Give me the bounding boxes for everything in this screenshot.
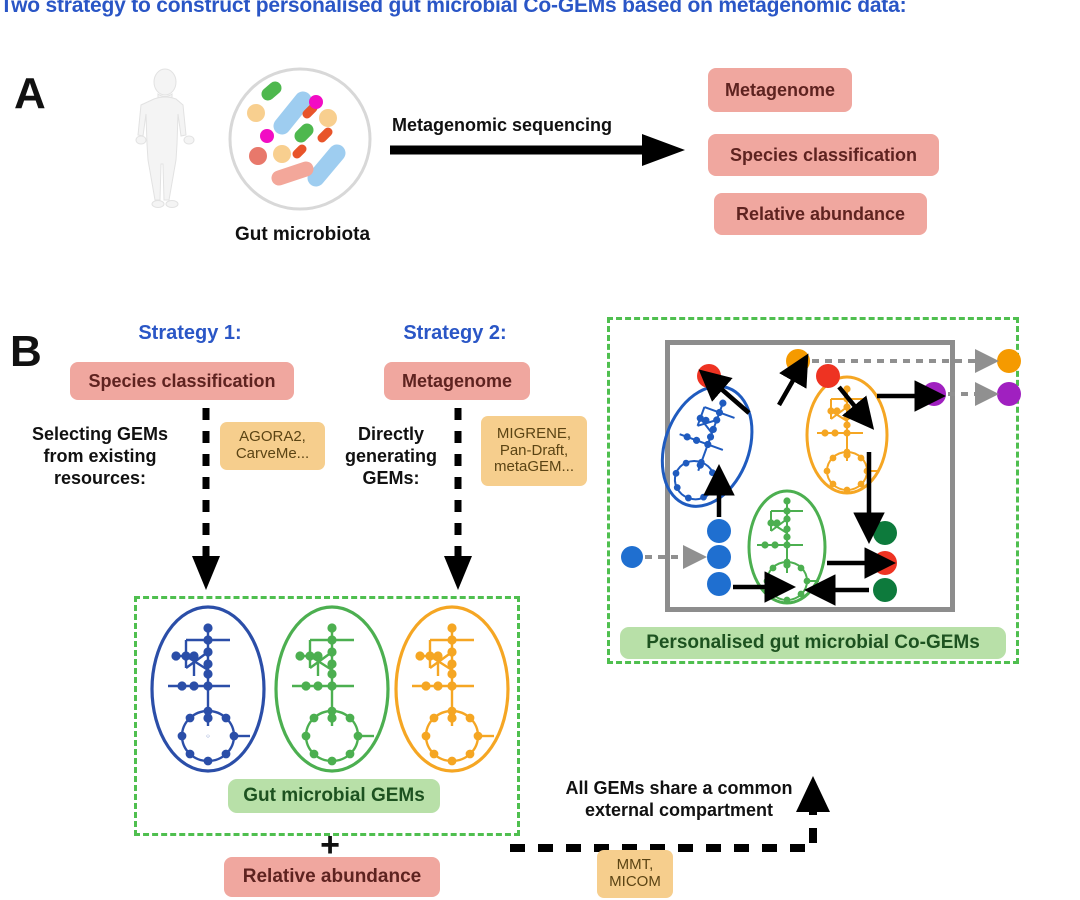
strategy-1-tool-line-1: AGORA2, (239, 429, 306, 446)
metabolite-darkgreen-1 (873, 521, 897, 545)
strategy-2-heading: Strategy 2: (340, 322, 570, 345)
metabolite-orange-out (997, 349, 1021, 373)
strategy-1-heading: Strategy 1: (70, 322, 310, 345)
cogems-label: Personalised gut microbial Co-GEMs (620, 627, 1006, 659)
output-pill-species-classification: Species classification (708, 134, 939, 176)
strategy-1-dashed-arrow (190, 408, 222, 590)
metabolite-blue-3 (707, 572, 731, 596)
metagenomic-sequencing-label: Metagenomic sequencing (392, 115, 612, 136)
strategy-2-dashed-arrow (442, 408, 474, 590)
panel-a-letter: A (14, 72, 46, 116)
cogems-network (607, 317, 1019, 617)
strategy-1-description: Selecting GEMs from existing resources: (10, 424, 190, 490)
strategy-2-tools-box: MIGRENE, Pan-Draft, metaGEM... (481, 416, 587, 486)
metabolite-purple-out (997, 382, 1021, 406)
output-pill-relative-abundance: Relative abundance (714, 193, 927, 235)
human-body-icon (125, 68, 205, 208)
strategy-1-tool-line-2: CarveMe... (236, 446, 309, 463)
strategy-2-tool-line-1: MIGRENE, (497, 426, 571, 443)
strategy-2-description: Directly generating GEMs: (330, 424, 452, 490)
strategy-1-input-box: Species classification (70, 362, 294, 400)
strategy-1-tools-box: AGORA2, CarveMe... (220, 422, 325, 470)
metabolite-red-3 (873, 551, 897, 575)
merge-tool-line-1: MMT, (617, 857, 654, 874)
relative-abundance-box: Relative abundance (224, 857, 440, 897)
panel-b-letter: B (10, 330, 42, 374)
metabolite-blue-2 (707, 545, 731, 569)
metabolite-orange-top (786, 349, 810, 373)
metabolite-blue-1 (707, 519, 731, 543)
strategy-2-tool-line-2: Pan-Draft, (500, 443, 568, 460)
metabolite-red-1 (697, 364, 721, 388)
metabolite-purple-in (922, 382, 946, 406)
figure-title: Two strategy to construct personalised g… (0, 0, 1080, 18)
merge-tools-box: MMT, MICOM (597, 850, 673, 898)
gem-ellipses-group (146, 604, 514, 774)
metabolite-blue-out (621, 546, 643, 568)
merge-tool-line-2: MICOM (609, 874, 661, 891)
metabolite-darkgreen-2 (873, 578, 897, 602)
merge-note: All GEMs share a common external compart… (534, 778, 824, 822)
gut-microbiota-caption: Gut microbiota (195, 224, 410, 246)
gut-microbial-gems-label: Gut microbial GEMs (228, 779, 440, 813)
strategy-2-input-box: Metagenome (384, 362, 530, 400)
output-pill-metagenome: Metagenome (708, 68, 852, 112)
strategy-2-tool-line-3: metaGEM... (494, 459, 574, 476)
metabolite-red-2 (816, 364, 840, 388)
microbiota-circle-icon (227, 66, 373, 212)
